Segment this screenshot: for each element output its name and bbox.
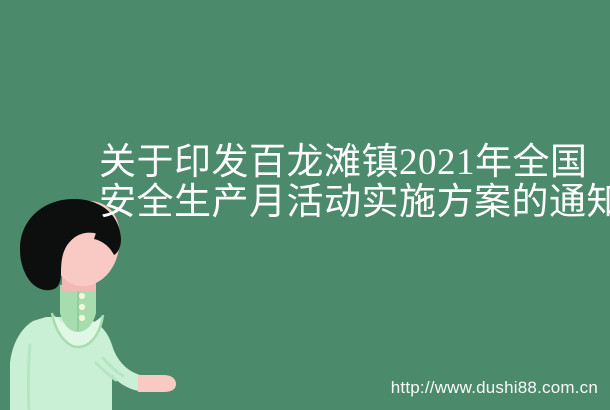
person-illustration [0,195,215,410]
hand-shape [138,375,176,392]
cover-image-canvas: 关于印发百龙滩镇2021年全国 安全生产月活动实施方案的通知 http://ww… [0,0,610,410]
title-line-1: 关于印发百龙滩镇2021年全国 [99,143,569,183]
sweater-buttons [79,293,85,321]
page-title: 关于印发百龙滩镇2021年全国 安全生产月活动实施方案的通知 [99,143,569,223]
watermark-url: http://www.dushi88.com.cn [391,378,598,398]
title-line-2: 安全生产月活动实施方案的通知 [99,183,569,223]
